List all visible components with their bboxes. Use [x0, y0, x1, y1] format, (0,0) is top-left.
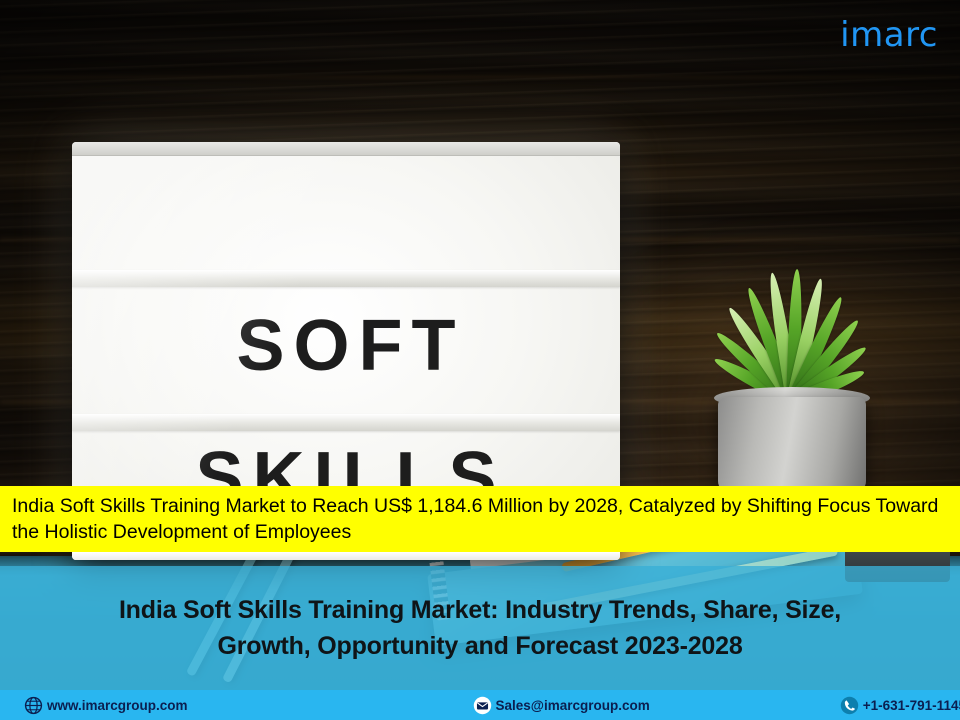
footer-email-label: Sales@imarcgroup.com	[496, 698, 650, 713]
footer-website-label: www.imarcgroup.com	[47, 698, 188, 713]
potted-plant	[690, 268, 900, 493]
globe-icon	[24, 696, 43, 715]
lightbox-top-frame	[72, 142, 620, 156]
footer-email[interactable]: Sales@imarcgroup.com	[473, 696, 650, 715]
phone-icon	[840, 696, 859, 715]
poster-canvas: SOFT SKILLS imarc India Soft Skills Trai…	[0, 0, 960, 720]
footer-phone-label: +1-631-791-1145	[863, 698, 960, 713]
lightbox-divider-strip	[72, 270, 620, 287]
report-title-line-1: India Soft Skills Training Market: Indus…	[119, 595, 841, 625]
footer-phone[interactable]: +1-631-791-1145	[840, 696, 960, 715]
imarc-logo[interactable]: imarc	[840, 18, 938, 52]
imarc-logo-text: imarc	[840, 18, 938, 52]
headline-text: India Soft Skills Training Market to Rea…	[12, 493, 948, 545]
envelope-icon	[473, 696, 492, 715]
report-title-line-2: Growth, Opportunity and Forecast 2023-20…	[217, 631, 742, 661]
headline-line-1: India Soft Skills Training Market to Rea…	[12, 495, 741, 517]
report-title-banner: India Soft Skills Training Market: Indus…	[0, 566, 960, 690]
plant-pot	[718, 397, 866, 493]
footer-contact-bar: www.imarcgroup.com Sales@imarcgroup.com …	[0, 690, 960, 720]
headline-banner: India Soft Skills Training Market to Rea…	[0, 486, 960, 552]
lightbox-text-soft: SOFT	[72, 310, 620, 382]
lightbox-divider-strip	[72, 552, 620, 560]
footer-website[interactable]: www.imarcgroup.com	[24, 696, 188, 715]
lightbox-divider-strip	[72, 414, 620, 431]
